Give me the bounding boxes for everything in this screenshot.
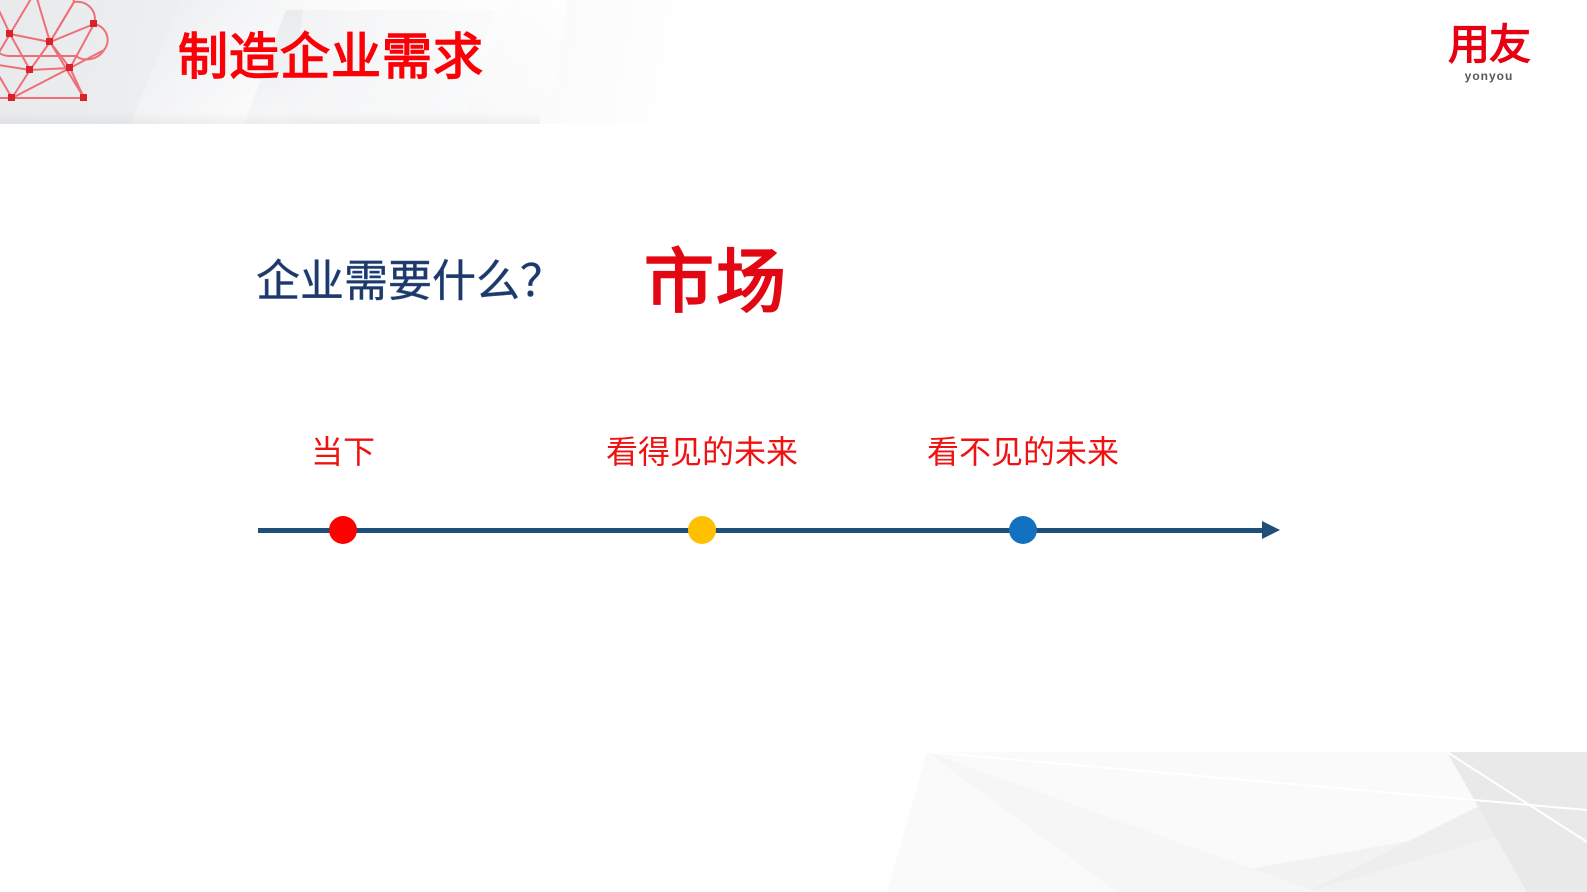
question-label: 企业需要什么？: [256, 250, 564, 314]
timeline-label-invisible-future: 看不见的未来: [927, 430, 1119, 474]
brand-logo: 用友 yonyou: [1419, 22, 1559, 83]
slide-canvas: 制造企业需求 用友 yonyou 企业需要什么？ 市场 当下 看得见的未来 看不…: [0, 0, 1587, 892]
timeline: 当下 看得见的未来 看不见的未来: [0, 430, 1587, 560]
logo-mark-text: 用友: [1419, 22, 1559, 68]
page-title: 制造企业需求: [178, 26, 484, 88]
timeline-label-present: 当下: [311, 430, 375, 474]
header-edge-shadow: [0, 112, 540, 124]
question-answer-row: 企业需要什么？ 市场: [256, 245, 788, 319]
bottom-right-decoration: [887, 722, 1587, 892]
logo-sub-text: yonyou: [1419, 69, 1559, 83]
timeline-label-visible-future: 看得见的未来: [606, 430, 798, 474]
timeline-dot-present: [329, 516, 357, 544]
timeline-dot-invisible-future: [1009, 516, 1037, 544]
answer-highlight: 市场: [644, 245, 788, 319]
timeline-axis-line: [258, 528, 1268, 533]
timeline-dot-visible-future: [688, 516, 716, 544]
timeline-arrow-icon: [1262, 521, 1280, 539]
